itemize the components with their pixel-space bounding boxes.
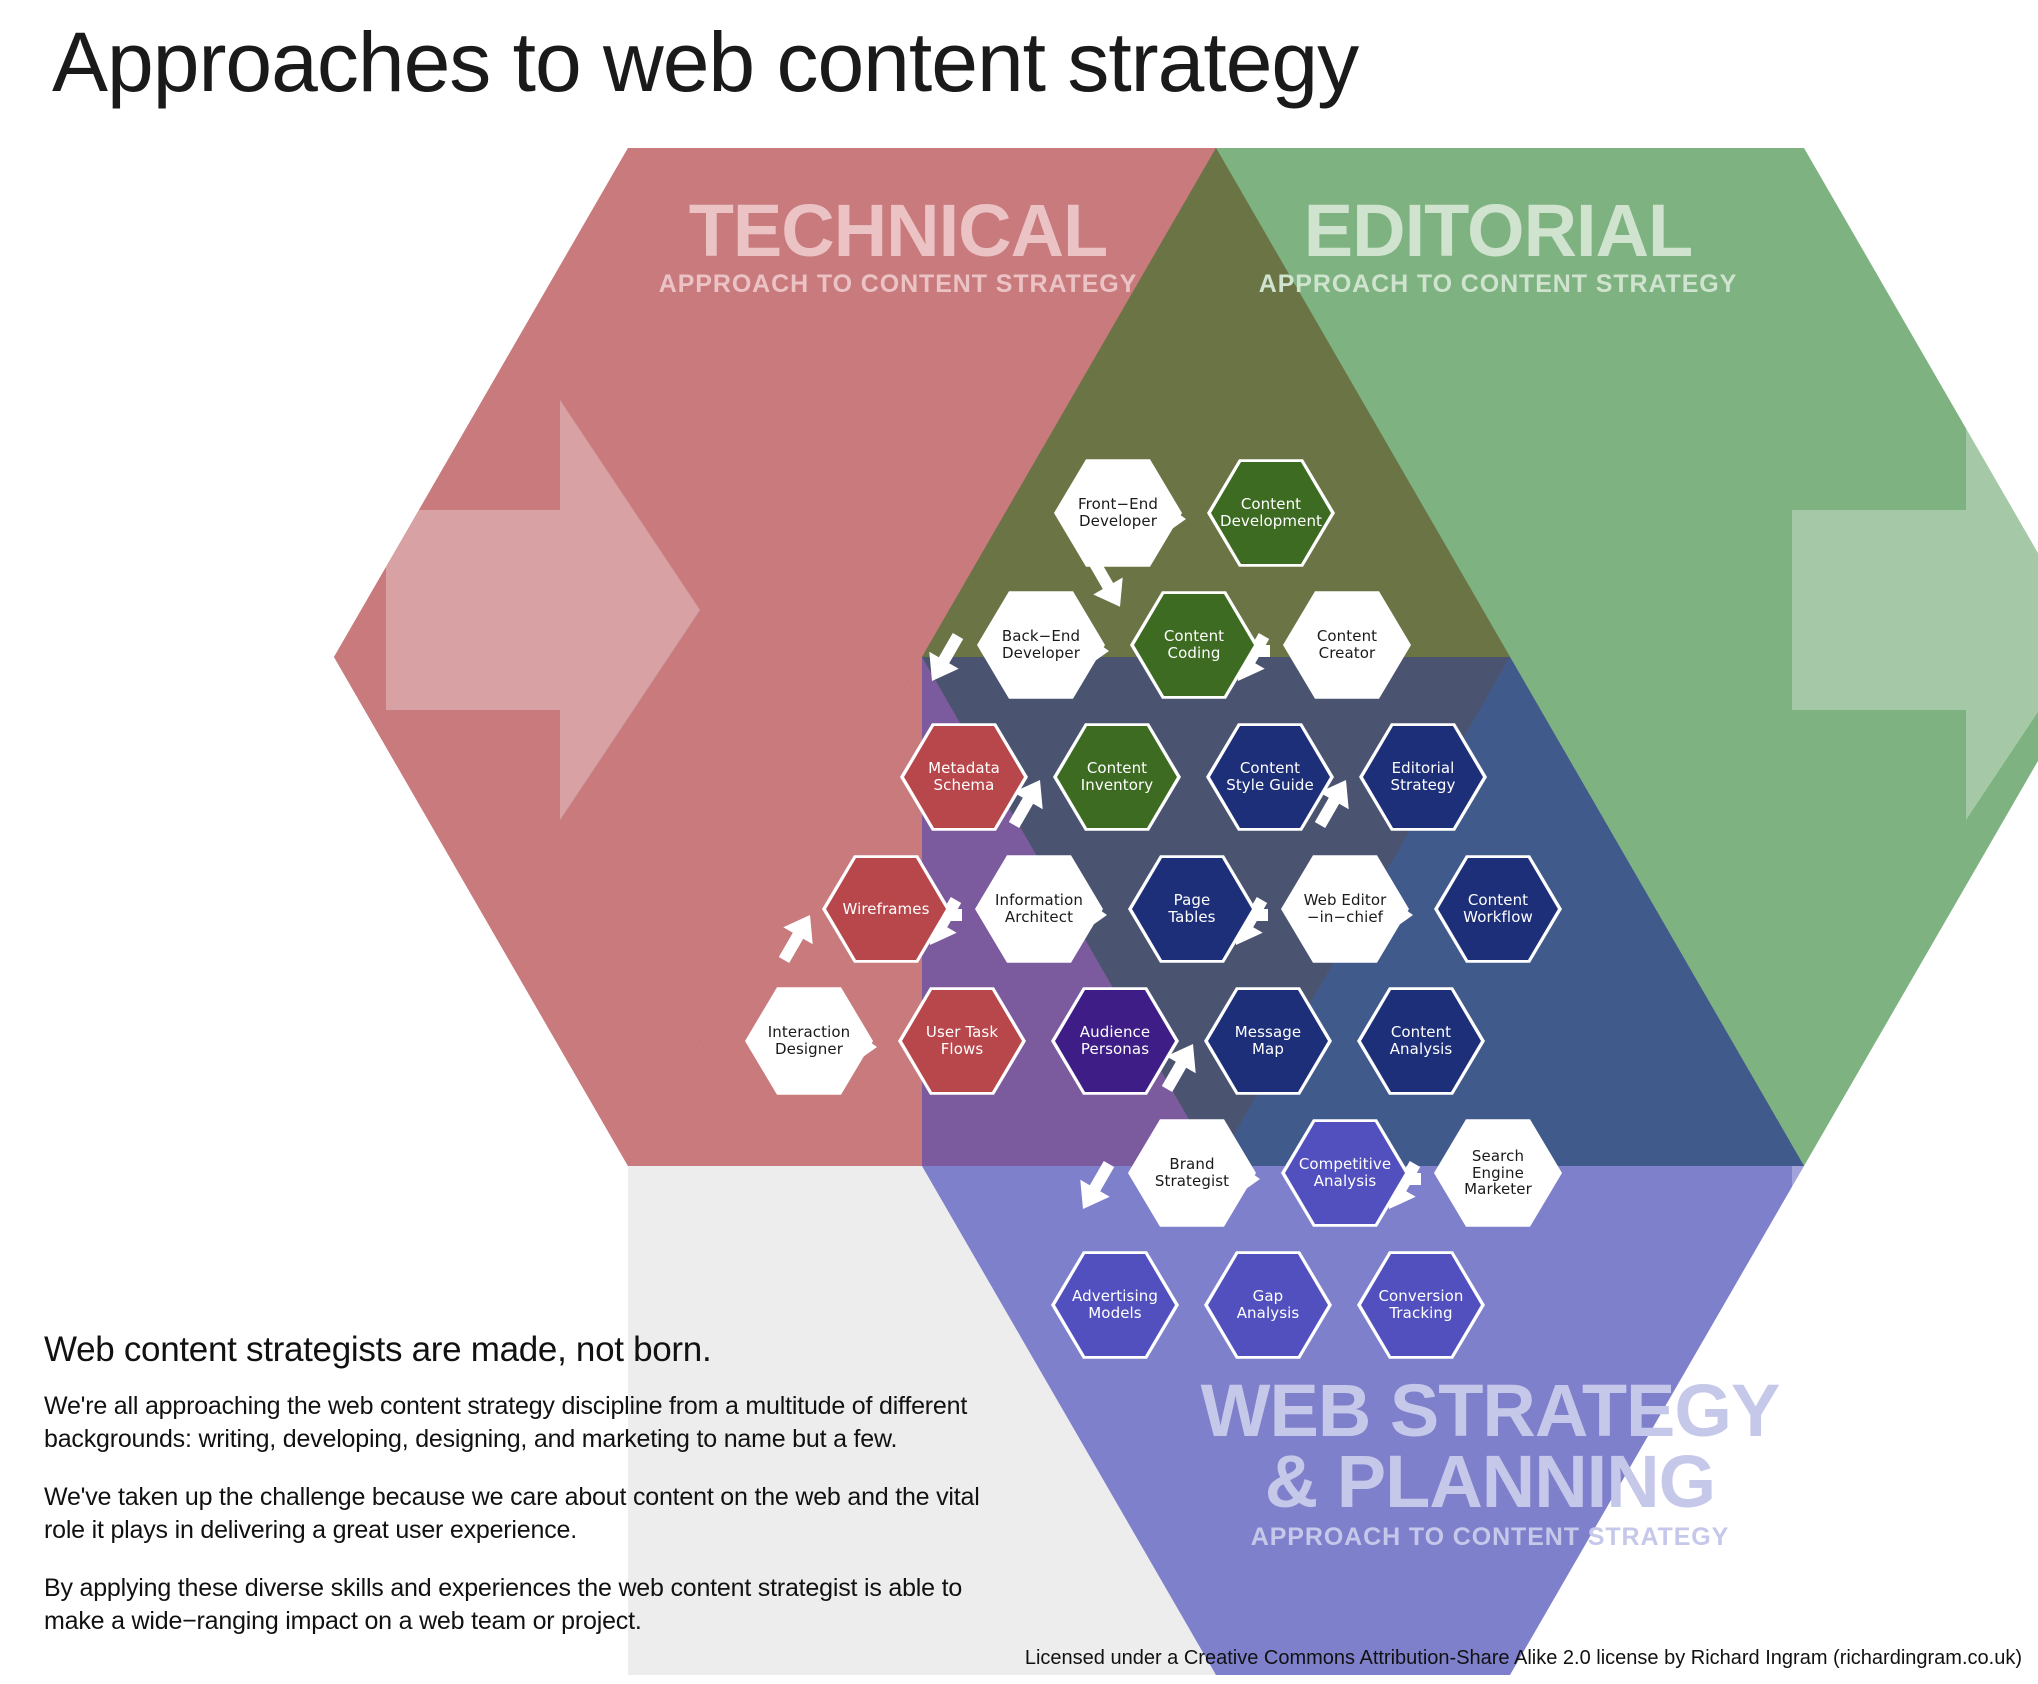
hex-fill: Back−EndDeveloper xyxy=(981,593,1101,697)
hex-label: ConversionTracking xyxy=(1372,1288,1469,1322)
hex-label: User TaskFlows xyxy=(920,1024,1004,1058)
hex-fill: PageTables xyxy=(1132,857,1252,961)
hex-label: AudiencePersonas xyxy=(1074,1024,1156,1058)
hex-label: AdvertisingModels xyxy=(1066,1288,1164,1322)
hex-label: EditorialStrategy xyxy=(1384,760,1461,794)
hex-label: GapAnalysis xyxy=(1231,1288,1306,1322)
hex-label: CompetitiveAnalysis xyxy=(1293,1156,1397,1190)
hex-label: InformationArchitect xyxy=(989,892,1089,926)
hex-fill: InformationArchitect xyxy=(979,857,1099,961)
hex-fill: ConversionTracking xyxy=(1361,1253,1481,1357)
hex-label: MetadataSchema xyxy=(922,760,1006,794)
hex-label: BrandStrategist xyxy=(1149,1156,1235,1190)
hex-fill: ContentCreator xyxy=(1287,593,1407,697)
hex-fill: Web Editor−in−chief xyxy=(1285,857,1405,961)
hex-fill: Front−EndDeveloper xyxy=(1058,461,1178,565)
hex-fill: CompetitiveAnalysis xyxy=(1285,1121,1405,1225)
hex-label: InteractionDesigner xyxy=(762,1024,856,1058)
hex-fill: GapAnalysis xyxy=(1208,1253,1328,1357)
hex-label: PageTables xyxy=(1162,892,1221,926)
hex-fill: ContentWorkflow xyxy=(1438,857,1558,961)
hex-label: ContentStyle Guide xyxy=(1220,760,1320,794)
hex-label: ContentWorkflow xyxy=(1457,892,1539,926)
hex-fill: ContentDevelopment xyxy=(1211,461,1331,565)
hex-fill: ContentStyle Guide xyxy=(1210,725,1330,829)
hex-fill: AudiencePersonas xyxy=(1055,989,1175,1093)
hex-label: Front−EndDeveloper xyxy=(1072,496,1164,530)
hex-label: Wireframes xyxy=(836,901,935,918)
hex-label: ContentAnalysis xyxy=(1384,1024,1459,1058)
hex-fill: Wireframes xyxy=(826,857,946,961)
hex-fill: AdvertisingModels xyxy=(1055,1253,1175,1357)
lede-heading: Web content strategists are made, not bo… xyxy=(44,1330,1054,1370)
hex-label: MessageMap xyxy=(1229,1024,1307,1058)
body-paragraph-1: We're all approaching the web content st… xyxy=(44,1390,1004,1455)
hex-fill: ContentCoding xyxy=(1134,593,1254,697)
body-paragraph-2: We've taken up the challenge because we … xyxy=(44,1481,1004,1546)
hex-label: ContentCreator xyxy=(1311,628,1383,662)
hex-label: ContentCoding xyxy=(1158,628,1230,662)
hex-label: Back−EndDeveloper xyxy=(996,628,1086,662)
hex-fill: BrandStrategist xyxy=(1132,1121,1252,1225)
hex-label: ContentInventory xyxy=(1075,760,1160,794)
hex-fill: SearchEngineMarketer xyxy=(1438,1121,1558,1225)
hex-label: SearchEngineMarketer xyxy=(1458,1148,1538,1198)
hex-fill: ContentInventory xyxy=(1057,725,1177,829)
body-paragraph-3: By applying these diverse skills and exp… xyxy=(44,1572,1004,1637)
hex-fill: EditorialStrategy xyxy=(1363,725,1483,829)
hex-fill: InteractionDesigner xyxy=(749,989,869,1093)
hex-fill: ContentAnalysis xyxy=(1361,989,1481,1093)
hex-fill: User TaskFlows xyxy=(902,989,1022,1093)
hex-fill: MessageMap xyxy=(1208,989,1328,1093)
license-text: Licensed under a Creative Commons Attrib… xyxy=(1025,1647,2022,1670)
hex-label: Web Editor−in−chief xyxy=(1298,892,1393,926)
body-copy: We're all approaching the web content st… xyxy=(44,1390,1004,1663)
hex-label: ContentDevelopment xyxy=(1214,496,1328,530)
hex-fill: MetadataSchema xyxy=(904,725,1024,829)
